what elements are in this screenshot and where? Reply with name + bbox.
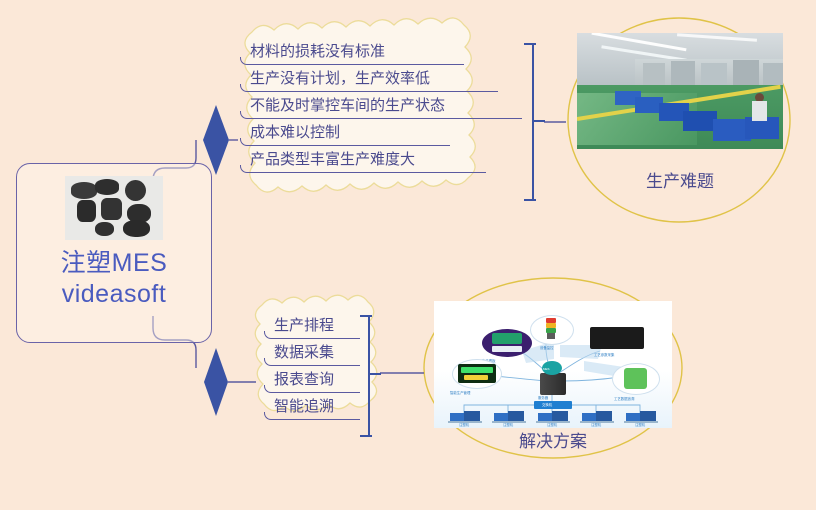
topology-label-n5: 工艺数据追溯 bbox=[614, 397, 634, 401]
solution-card-caption: 解决方案 bbox=[473, 432, 633, 452]
root-node[interactable]: 注塑MES videasoft bbox=[16, 163, 212, 343]
topology-label-n4: 智能生产管理 bbox=[450, 391, 470, 395]
item-underline bbox=[264, 331, 360, 339]
topology-machine: 注塑机 bbox=[448, 411, 482, 425]
list-item[interactable]: 成本难以控制 bbox=[240, 119, 466, 146]
list-item[interactable]: 不能及时掌控车间的生产状态 bbox=[240, 92, 538, 119]
list-item[interactable]: 生产没有计划，生产效率低 bbox=[240, 65, 514, 92]
bracket-stub bbox=[368, 373, 381, 375]
bracket-cap-top bbox=[524, 43, 536, 45]
root-node-title: 注塑MES videasoft bbox=[61, 248, 168, 310]
branch-marker-problems bbox=[203, 105, 229, 175]
list-item[interactable]: 产品类型丰富生产难度大 bbox=[240, 146, 502, 173]
bracket-vertical bbox=[368, 315, 370, 437]
problems-card-caption: 生产难题 bbox=[600, 172, 760, 192]
list-item[interactable]: 材料的损耗没有标准 bbox=[240, 38, 480, 65]
solution-card-image: 生产看板 设备监控 工艺参数采集 智能生产管理 工艺数据追溯 MES 服务器 交… bbox=[434, 301, 672, 428]
bracket-stub bbox=[532, 120, 545, 122]
bracket-cap-top bbox=[360, 315, 372, 317]
item-underline bbox=[264, 358, 360, 366]
problems-bracket bbox=[524, 43, 546, 201]
item-underline bbox=[240, 111, 522, 119]
topology-machine: 注塑机 bbox=[536, 411, 570, 425]
root-title-line2: videasoft bbox=[61, 279, 168, 310]
root-node-image bbox=[65, 176, 163, 240]
bracket-cap-bottom bbox=[524, 199, 536, 201]
mindmap-canvas: 注塑MES videasoft 材料的损耗没有标准 生产没有计划，生产效率低 不… bbox=[0, 0, 816, 510]
topology-machine: 注塑机 bbox=[580, 411, 614, 425]
item-underline bbox=[264, 412, 360, 420]
topology-label-n2: 设备监控 bbox=[540, 346, 554, 350]
topology-machine: 注塑机 bbox=[492, 411, 526, 425]
branch-marker-solution bbox=[204, 348, 228, 416]
topology-machine: 注塑机 bbox=[624, 411, 658, 425]
item-underline bbox=[240, 165, 486, 173]
solution-bracket bbox=[360, 315, 382, 437]
topology-label-switch: 交换机 bbox=[542, 403, 552, 407]
root-title-line1: 注塑MES bbox=[61, 248, 168, 279]
problems-list: 材料的损耗没有标准 生产没有计划，生产效率低 不能及时掌控车间的生产状态 成本难… bbox=[240, 38, 530, 173]
topology-label-center-sub: 服务器 bbox=[538, 396, 548, 400]
bracket-cap-bottom bbox=[360, 435, 372, 437]
item-underline bbox=[240, 57, 464, 65]
topology-label-n3: 工艺参数采集 bbox=[594, 353, 614, 357]
item-underline bbox=[240, 84, 498, 92]
topology-label-center: MES bbox=[543, 367, 550, 371]
problems-card-image bbox=[577, 33, 783, 149]
item-underline bbox=[240, 138, 450, 146]
item-underline bbox=[264, 385, 360, 393]
